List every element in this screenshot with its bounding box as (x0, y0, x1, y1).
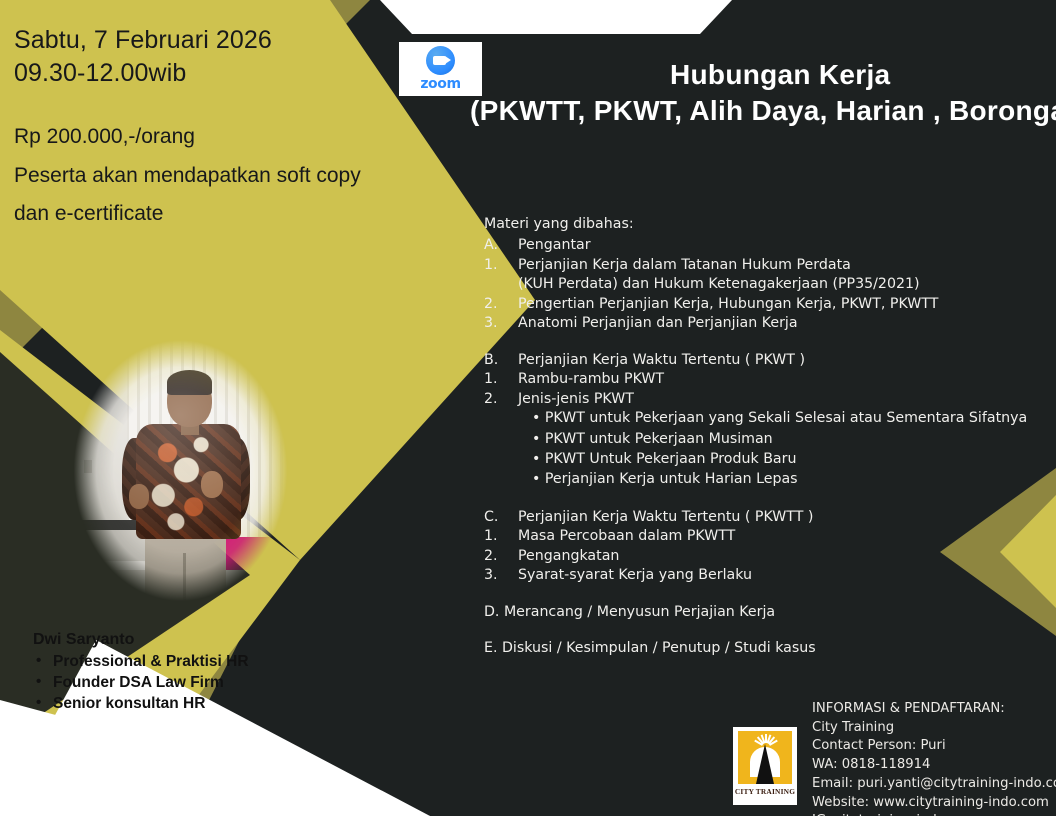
speaker-credential-item: Professional & Praktisi HR (33, 652, 363, 672)
city-training-logo: CITY TRAINING (733, 727, 797, 805)
section-label: Pengantar (518, 236, 1044, 255)
price-line: Rp 200.000,-/orang (14, 121, 364, 154)
city-training-logo-text: CITY TRAINING (735, 787, 795, 796)
photo-person-hand-left (129, 484, 149, 509)
photo-wall-switch (84, 460, 92, 473)
materi-item: 2. Pengertian Perjanjian Kerja, Hubungan… (484, 295, 1044, 314)
contact-org: City Training (812, 719, 1056, 738)
event-title-line-2: (PKWTT, PKWT, Alih Daya, Harian , Borong… (470, 94, 1056, 127)
zoom-camera-lens (445, 56, 451, 64)
item-text: Syarat-syarat Kerja yang Berlaku (518, 566, 1044, 585)
price-block: Rp 200.000,-/orang Peserta akan mendapat… (14, 121, 364, 231)
speaker-credential-item: Senior konsultan HR (33, 694, 363, 714)
materi-bullet: • PKWT Untuk Pekerjaan Produk Baru (532, 450, 1044, 469)
item-text: Anatomi Perjanjian dan Perjanjian Kerja (518, 314, 1044, 333)
item-text: Perjanjian Kerja dalam Tatanan Hukum Per… (518, 256, 1044, 275)
materi-bullet-group: • PKWT untuk Pekerjaan yang Sekali Seles… (484, 409, 1044, 490)
materi-heading: Materi yang dibahas: (484, 215, 1044, 234)
materi-section-d: D. Merancang / Menyusun Perjajian Kerja (484, 603, 1044, 622)
flyer-canvas: Sabtu, 7 Februari 2026 09.30-12.00wib Rp… (0, 0, 1056, 816)
materi-item: 3. Syarat-syarat Kerja yang Berlaku (484, 566, 1044, 585)
note-line-2: dan e-certificate (14, 198, 364, 231)
zoom-wordmark: zoom (420, 76, 460, 92)
materi-section-c-header: C. Perjanjian Kerja Waktu Tertentu ( PKW… (484, 508, 1044, 527)
section-gap (484, 622, 1044, 639)
contact-heading: INFORMASI & PENDAFTARAN: (812, 700, 1056, 719)
materi-item: 1. Rambu-rambu PKWT (484, 370, 1044, 389)
speaker-photo-circle (68, 333, 293, 608)
speaker-credential-item: Founder DSA Law Firm (33, 673, 363, 693)
item-text: Pengertian Perjanjian Kerja, Hubungan Ke… (518, 295, 1044, 314)
contact-block: INFORMASI & PENDAFTARAN: City Training C… (812, 700, 1056, 816)
item-marker: 1. (484, 370, 518, 389)
contact-person: Contact Person: Puri (812, 737, 1056, 756)
item-marker: 2. (484, 390, 518, 409)
photo-person-hair (167, 370, 212, 395)
section-label: Perjanjian Kerja Waktu Tertentu ( PKWT ) (518, 351, 1044, 370)
contact-website[interactable]: Website: www.citytraining-indo.com (812, 794, 1056, 813)
item-continuation: (KUH Perdata) dan Hukum Ketenagakerjaan … (484, 275, 1044, 294)
section-label: Perjanjian Kerja Waktu Tertentu ( PKWTT … (518, 508, 1044, 527)
top-white-trapezoid (380, 0, 732, 34)
section-gap (484, 334, 1044, 351)
materi-list: Materi yang dibahas: A. Pengantar 1. Per… (484, 215, 1044, 659)
event-title-line-1: Hubungan Kerja (470, 58, 1056, 91)
section-marker: A. (484, 236, 518, 255)
item-marker: 1. (484, 527, 518, 546)
item-text: Masa Percobaan dalam PKWTT (518, 527, 1044, 546)
materi-bullet: • PKWT untuk Pekerjaan yang Sekali Seles… (532, 409, 1044, 428)
materi-section-a-header: A. Pengantar (484, 236, 1044, 255)
section-marker: C. (484, 508, 518, 527)
materi-item: 2. Jenis-jenis PKWT (484, 390, 1044, 409)
materi-item: 1. Perjanjian Kerja dalam Tatanan Hukum … (484, 256, 1044, 275)
item-marker: 2. (484, 547, 518, 566)
event-dateline: Sabtu, 7 Februari 2026 09.30-12.00wib (14, 24, 364, 89)
speaker-name: Dwi Saryanto (33, 630, 363, 650)
logo-road-shape (756, 744, 774, 784)
item-marker: 2. (484, 295, 518, 314)
city-training-logo-mark (738, 731, 792, 784)
speaker-photo (68, 333, 293, 608)
materi-bullet: • PKWT untuk Pekerjaan Musiman (532, 430, 1044, 449)
item-text: Rambu-rambu PKWT (518, 370, 1044, 389)
photo-trouser-seam (183, 553, 186, 608)
section-marker: B. (484, 351, 518, 370)
contact-instagram[interactable]: IG: citytraining_indo (812, 812, 1056, 816)
photo-person-batik-shirt (136, 424, 242, 540)
photo-wall-panel (68, 333, 127, 526)
item-text: Jenis-jenis PKWT (518, 390, 1044, 409)
contact-email[interactable]: Email: puri.yanti@citytraining-indo.com (812, 775, 1056, 794)
speaker-bio: Dwi Saryanto Professional & Praktisi HR … (33, 630, 363, 715)
photo-person-hand-right (201, 471, 224, 499)
materi-section-b-header: B. Perjanjian Kerja Waktu Tertentu ( PKW… (484, 351, 1044, 370)
materi-item: 2. Pengangkatan (484, 547, 1044, 566)
item-marker: 1. (484, 256, 518, 275)
item-marker: 3. (484, 314, 518, 333)
materi-section-e: E. Diskusi / Kesimpulan / Penutup / Stud… (484, 639, 1044, 658)
note-line-1: Peserta akan mendapatkan soft copy (14, 160, 364, 193)
left-info-panel: Sabtu, 7 Februari 2026 09.30-12.00wib Rp… (14, 24, 364, 237)
contact-whatsapp[interactable]: WA: 0818-118914 (812, 756, 1056, 775)
materi-bullet: • Perjanjian Kerja untuk Harian Lepas (532, 470, 1044, 489)
event-title: Hubungan Kerja (PKWTT, PKWT, Alih Daya, … (470, 58, 1056, 127)
materi-item: 1. Masa Percobaan dalam PKWTT (484, 527, 1044, 546)
item-marker: 3. (484, 566, 518, 585)
section-gap (484, 491, 1044, 508)
materi-item: 3. Anatomi Perjanjian dan Perjanjian Ker… (484, 314, 1044, 333)
item-text: Pengangkatan (518, 547, 1044, 566)
zoom-camera-icon (426, 46, 455, 75)
speaker-credentials: Professional & Praktisi HR Founder DSA L… (33, 652, 363, 714)
section-gap (484, 586, 1044, 603)
